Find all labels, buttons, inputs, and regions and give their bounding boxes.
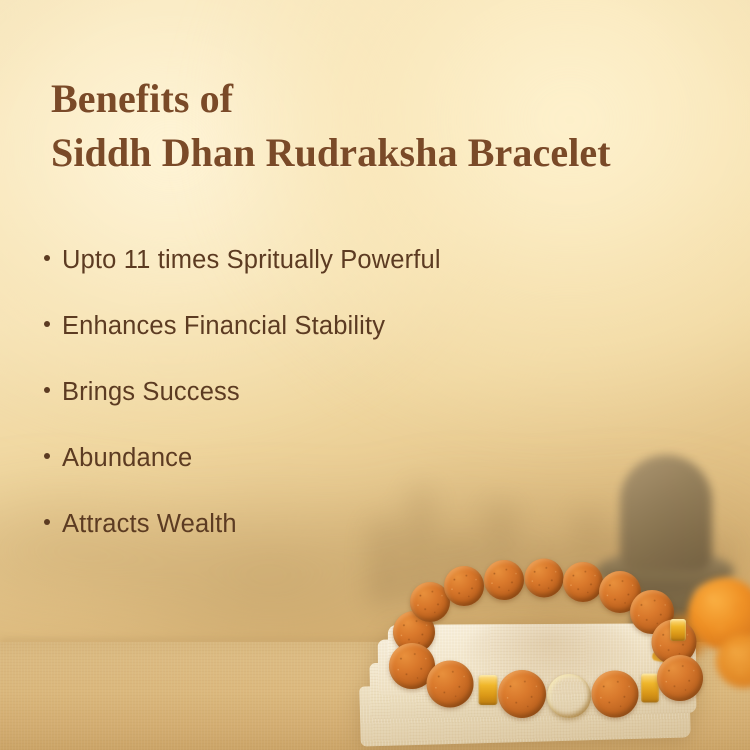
benefit-label: Upto 11 times Spritually Powerful [62, 246, 441, 275]
list-item: Abundance [44, 444, 664, 510]
poster-canvas: Benefits of Siddh Dhan Rudraksha Bracele… [0, 0, 750, 750]
list-item: Upto 11 times Spritually Powerful [44, 246, 664, 312]
benefit-label: Brings Success [62, 378, 240, 407]
rudraksha-bracelet [392, 566, 702, 718]
page-title-line-2: Siddh Dhan Rudraksha Bracelet [51, 126, 741, 180]
list-item: Brings Success [44, 378, 664, 444]
list-item: Enhances Financial Stability [44, 312, 664, 378]
benefit-label: Abundance [62, 444, 192, 473]
bullet-icon [44, 387, 50, 393]
benefit-label: Enhances Financial Stability [62, 312, 385, 341]
list-item: Attracts Wealth [44, 510, 664, 576]
page-title-line-1: Benefits of [51, 72, 741, 126]
bullet-icon [44, 453, 50, 459]
benefit-label: Attracts Wealth [62, 510, 237, 539]
bullet-icon [44, 255, 50, 261]
page-title: Benefits of Siddh Dhan Rudraksha Bracele… [51, 72, 741, 181]
bullet-icon [44, 519, 50, 525]
bullet-icon [44, 321, 50, 327]
benefits-list: Upto 11 times Spritually Powerful Enhanc… [44, 246, 664, 576]
